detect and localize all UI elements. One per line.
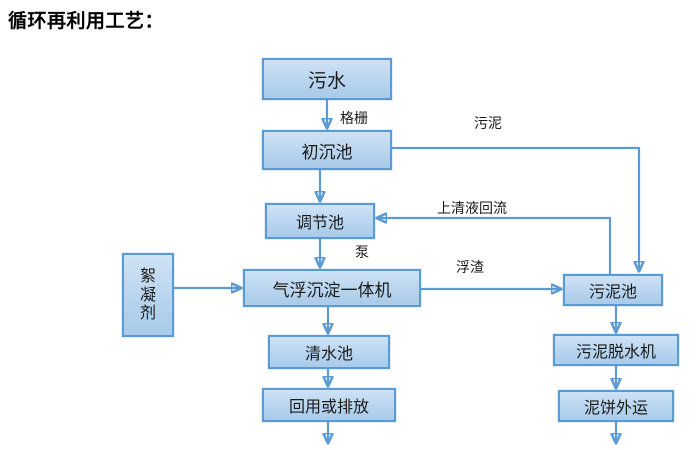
- node-wastewater[interactable]: 污水: [262, 58, 392, 100]
- edge-label-sludge: 污泥: [474, 113, 502, 133]
- page-title: 循环再利用工艺：: [8, 6, 164, 33]
- edge-label-grille: 格栅: [340, 108, 368, 128]
- node-primary-tank-label: 初沉池: [302, 138, 353, 163]
- node-clearwater-tank[interactable]: 清水池: [268, 335, 390, 369]
- edge-label-scum: 浮渣: [456, 257, 484, 277]
- edge-primary-to-sludge-tank: [392, 148, 639, 271]
- node-sludge-dewaterer[interactable]: 污泥脱水机: [553, 334, 679, 366]
- node-reuse-discharge-label: 回用或排放: [289, 393, 369, 417]
- node-reuse-discharge[interactable]: 回用或排放: [262, 388, 396, 422]
- node-clearwater-tank-label: 清水池: [305, 340, 353, 364]
- edge-label-pump: 泵: [355, 242, 369, 262]
- node-cake-transport-label: 泥饼外运: [584, 394, 648, 418]
- edge-sludge-tank-to-regulating: [377, 218, 610, 274]
- node-flocculant-line-3: 剂: [140, 304, 156, 322]
- node-flocculant[interactable]: 絮 凝 剂: [122, 253, 174, 337]
- node-regulating-tank[interactable]: 调节池: [265, 203, 375, 239]
- node-cake-transport[interactable]: 泥饼外运: [558, 390, 674, 422]
- node-flocculant-line-1: 絮: [140, 267, 156, 285]
- node-sludge-dewaterer-label: 污泥脱水机: [576, 338, 656, 362]
- node-regulating-tank-label: 调节池: [296, 209, 344, 233]
- node-flotation-machine-label: 气浮沉淀一体机: [273, 276, 392, 301]
- node-flocculant-line-2: 凝: [140, 286, 156, 304]
- node-flotation-machine[interactable]: 气浮沉淀一体机: [243, 269, 421, 307]
- node-sludge-tank[interactable]: 污泥池: [563, 274, 663, 306]
- node-wastewater-label: 污水: [308, 66, 346, 93]
- node-sludge-tank-label: 污泥池: [589, 278, 637, 302]
- node-primary-tank[interactable]: 初沉池: [262, 130, 392, 170]
- edge-label-supernatant: 上清液回流: [437, 198, 507, 218]
